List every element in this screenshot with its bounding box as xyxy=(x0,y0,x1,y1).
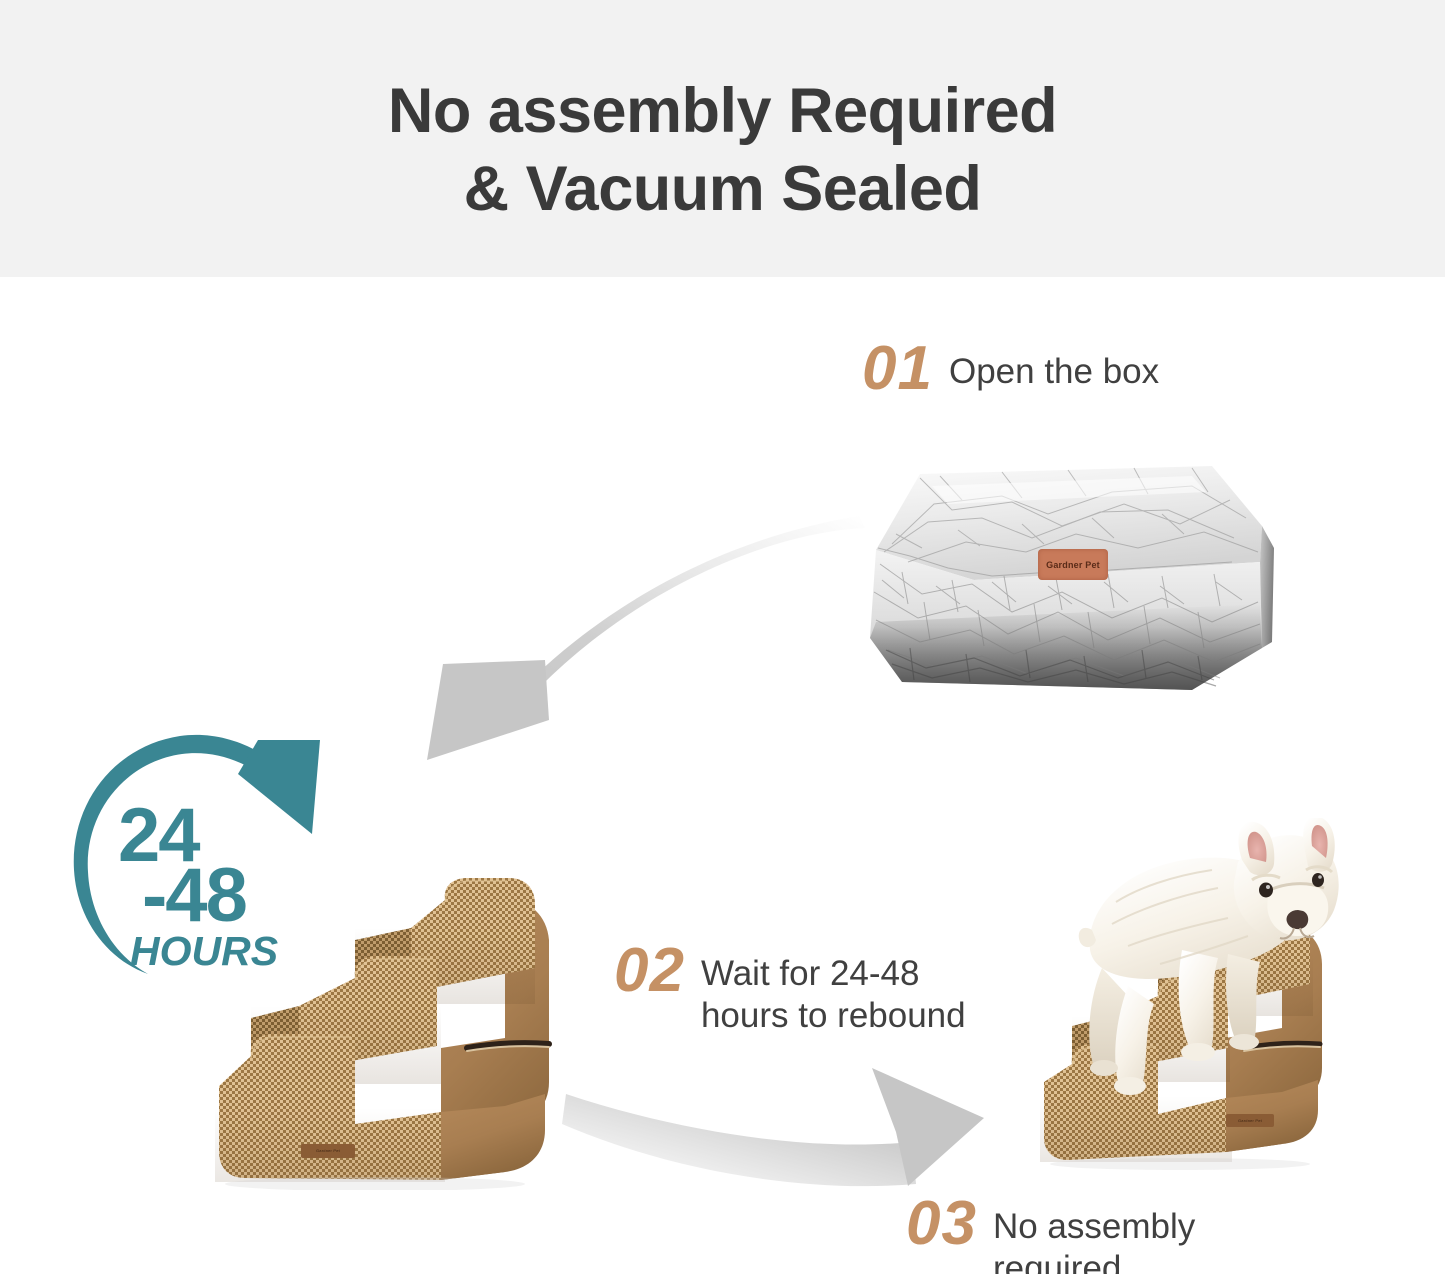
stairs-brand-tag-plain: Gardner Pet xyxy=(301,1144,355,1158)
step-label-03: 03 No assembly required xyxy=(906,1196,1195,1274)
dog-eye-right xyxy=(1312,873,1324,887)
step-label-02: 02 Wait for 24-48 hours to rebound xyxy=(614,943,966,1037)
arrow-1-head xyxy=(427,660,549,760)
dog-paw-3 xyxy=(1114,1077,1146,1095)
stairs-brand-tag-with-dog: Gardner Pet xyxy=(1226,1114,1274,1127)
arrow-1-body xyxy=(507,516,865,704)
page-title: No assembly Required & Vacuum Sealed xyxy=(0,72,1445,228)
badge-arrowhead xyxy=(238,740,320,834)
dog-paw-1 xyxy=(1181,1043,1215,1061)
arrow-step1-to-step2 xyxy=(395,498,875,768)
package-side-face xyxy=(1260,526,1274,648)
infographic-page: No assembly Required & Vacuum Sealed 01 … xyxy=(0,0,1445,1274)
package-brand-text: Gardner Pet xyxy=(1046,560,1100,570)
french-bulldog xyxy=(1042,818,1342,1110)
step-label-01: 01 Open the box xyxy=(862,341,1159,397)
dog-front-leg-far xyxy=(1226,954,1260,1047)
step-number-02: 02 xyxy=(614,943,685,999)
stairs2-brand-tag-text: Gardner Pet xyxy=(1226,1114,1274,1127)
dog-front-leg-near xyxy=(1179,950,1218,1056)
dog-eye-left-glint xyxy=(1266,885,1270,889)
pet-stairs-plain: Gardner Pet xyxy=(205,872,590,1190)
dog-eye-left xyxy=(1259,883,1273,898)
stairs-brand-tag-text: Gardner Pet xyxy=(301,1144,355,1157)
title-line-1: No assembly Required xyxy=(388,76,1057,146)
step-text-02: Wait for 24-48 hours to rebound xyxy=(701,943,966,1037)
step-number-01: 01 xyxy=(862,341,933,397)
header-band: No assembly Required & Vacuum Sealed xyxy=(0,0,1445,277)
pet-stairs-plain-illustration xyxy=(205,872,590,1190)
arrow-2-body xyxy=(562,1094,916,1186)
stairs2-ground-shadow xyxy=(1050,1158,1310,1170)
vacuum-sealed-package: Gardner Pet xyxy=(862,452,1282,704)
step-text-03: No assembly required xyxy=(993,1196,1195,1274)
step-number-03: 03 xyxy=(906,1196,977,1252)
title-line-2: & Vacuum Sealed xyxy=(0,150,1445,228)
french-bulldog-illustration xyxy=(1042,818,1342,1110)
dog-eye-right-glint xyxy=(1318,875,1322,879)
dog-paw-2 xyxy=(1229,1034,1259,1050)
step-text-01: Open the box xyxy=(949,341,1159,393)
package-brand-label: Gardner Pet xyxy=(1038,549,1108,580)
dog-paw-4 xyxy=(1090,1060,1118,1076)
